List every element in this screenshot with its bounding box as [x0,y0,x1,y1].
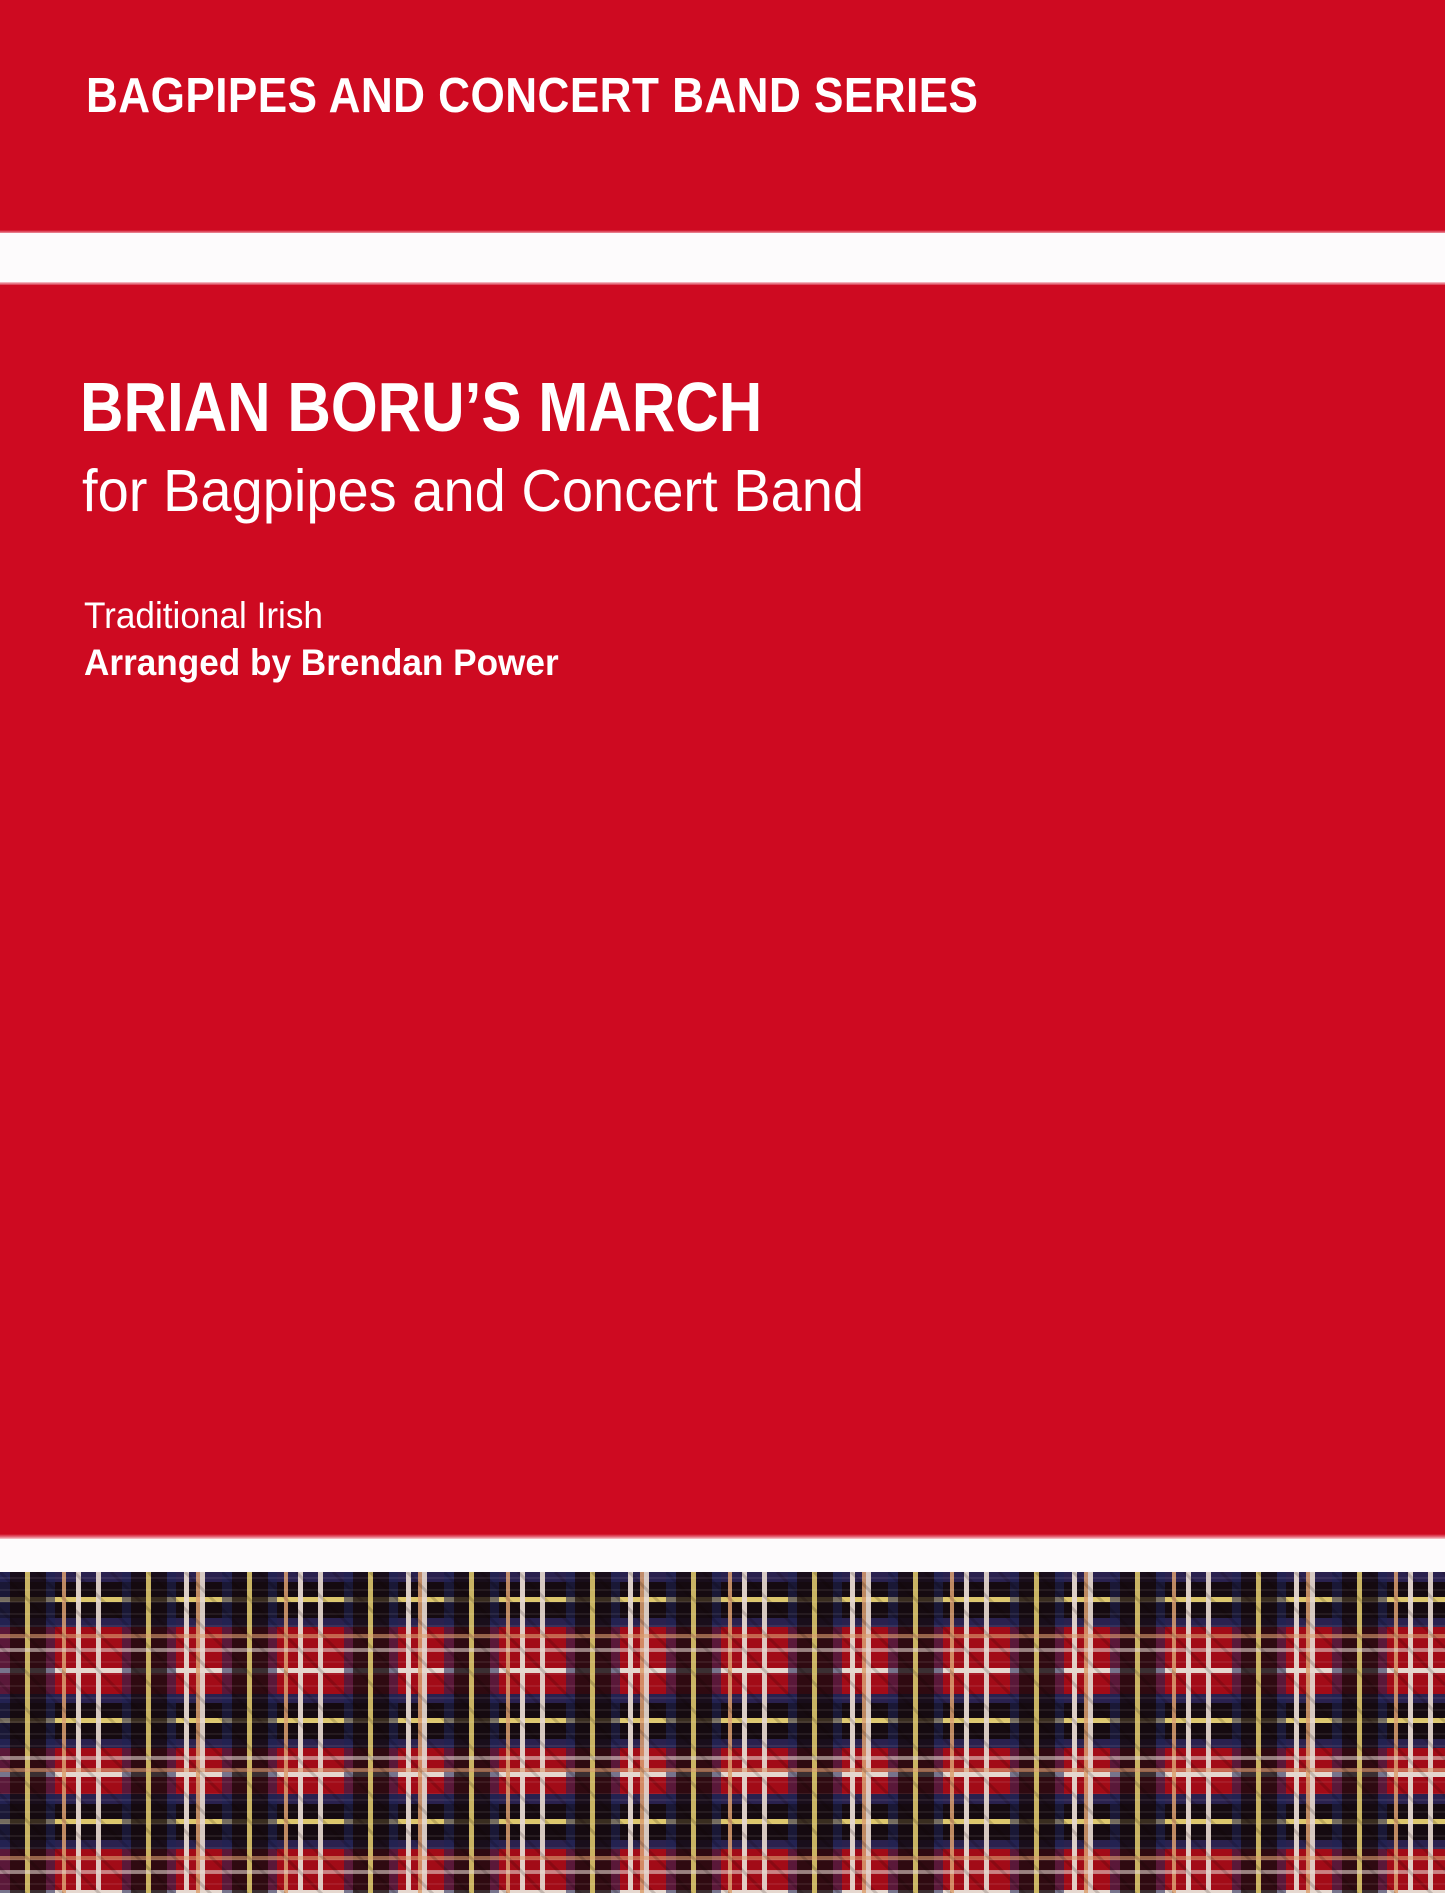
top-divider-gap [0,233,1445,285]
series-title: BAGPIPES AND CONCERT BAND SERIES [86,72,978,121]
credit-arranger: Arranged by Brendan Power [84,639,559,686]
credit-composer: Traditional Irish [84,592,559,639]
tartan-footer [0,1572,1445,1893]
tartan-pattern-icon [0,1572,1445,1893]
credits-block: Traditional Irish Arranged by Brendan Po… [84,592,584,686]
work-title: BRIAN BORU’S MARCH [80,372,762,442]
cover-page: BAGPIPES AND CONCERT BAND SERIES BRIAN B… [0,0,1445,1893]
work-subtitle: for Bagpipes and Concert Band [82,462,864,521]
bottom-divider-gap [0,1539,1445,1572]
